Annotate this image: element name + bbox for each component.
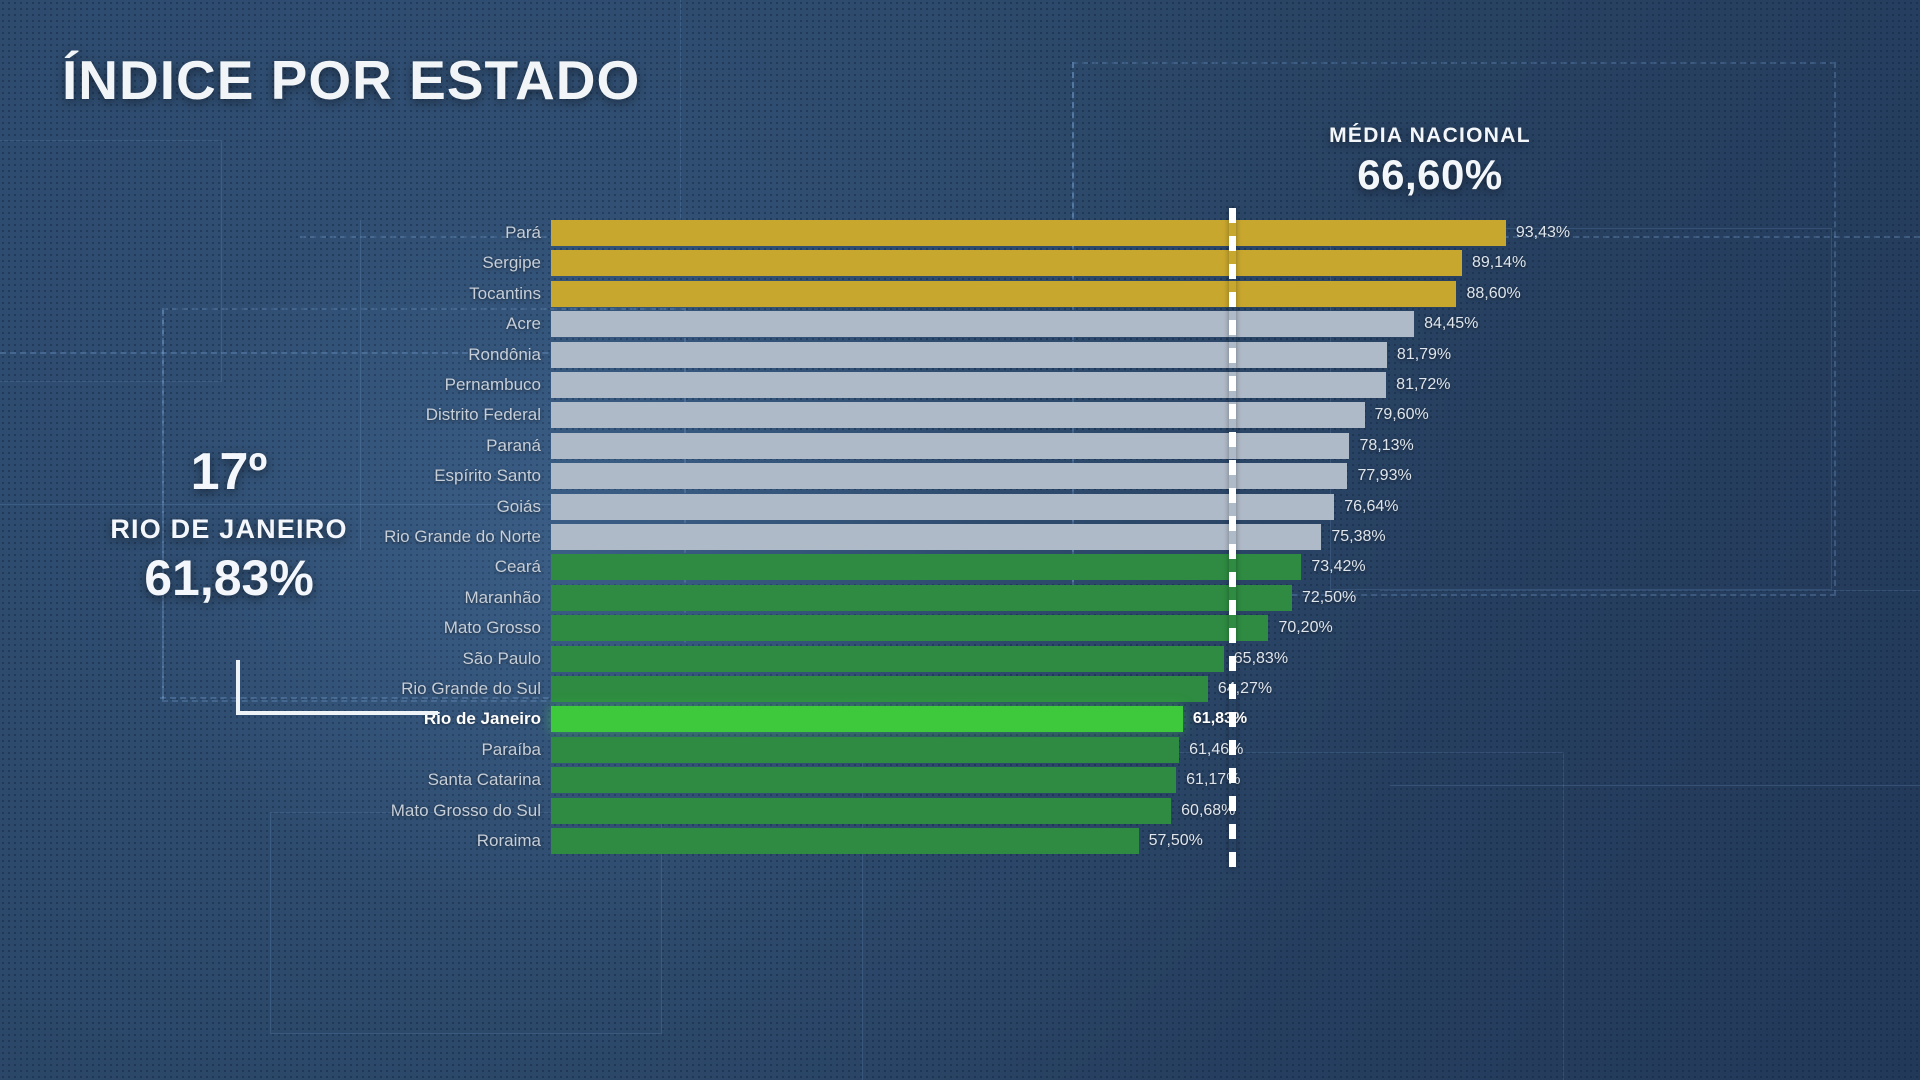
bar-value-label: 89,14% bbox=[1472, 254, 1526, 272]
callout-leader-line-horizontal bbox=[236, 711, 438, 715]
bar-value-label: 93,43% bbox=[1516, 224, 1570, 242]
bar-value-label: 78,13% bbox=[1359, 437, 1413, 455]
bar-label: Tocantins bbox=[121, 284, 541, 304]
chart-row: Paraíba61,46% bbox=[0, 735, 1920, 765]
bar-value-label: 84,45% bbox=[1424, 315, 1478, 333]
bar-label: Roraima bbox=[121, 831, 541, 851]
bar bbox=[551, 281, 1456, 307]
bar bbox=[551, 402, 1365, 428]
bar-value-label: 64,27% bbox=[1218, 680, 1272, 698]
bar-label: Rio Grande do Sul bbox=[121, 679, 541, 699]
bar bbox=[551, 646, 1224, 672]
chart-row: Pernambuco81,72% bbox=[0, 370, 1920, 400]
bar-value-label: 88,60% bbox=[1466, 285, 1520, 303]
bar-label: Acre bbox=[121, 314, 541, 334]
bar-value-label: 70,20% bbox=[1278, 619, 1332, 637]
chart-row: Mato Grosso do Sul60,68% bbox=[0, 796, 1920, 826]
bar bbox=[551, 706, 1183, 732]
national-average-dashed-line bbox=[1229, 208, 1236, 868]
bar-label: Distrito Federal bbox=[121, 405, 541, 425]
bar-label: Pará bbox=[121, 223, 541, 243]
bar-value-label: 75,38% bbox=[1331, 528, 1385, 546]
bar-value-label: 79,60% bbox=[1375, 406, 1429, 424]
national-average-block: MÉDIA NACIONAL 66,60% bbox=[1300, 124, 1560, 199]
callout-value: 61,83% bbox=[84, 549, 374, 607]
bar-value-label: 72,50% bbox=[1302, 589, 1356, 607]
chart-row: Roraima57,50% bbox=[0, 826, 1920, 856]
chart-row: Rio Grande do Sul64,27% bbox=[0, 674, 1920, 704]
bar bbox=[551, 615, 1268, 641]
bar-value-label: 65,83% bbox=[1234, 650, 1288, 668]
bar bbox=[551, 737, 1179, 763]
highlight-callout: 17º RIO DE JANEIRO 61,83% bbox=[84, 446, 374, 607]
national-average-value: 66,60% bbox=[1300, 151, 1560, 199]
bar-label: Sergipe bbox=[121, 253, 541, 273]
chart-row: Mato Grosso70,20% bbox=[0, 613, 1920, 643]
deco-line-v1 bbox=[680, 0, 681, 230]
chart-row: Sergipe89,14% bbox=[0, 248, 1920, 278]
bar-label: Rondônia bbox=[121, 345, 541, 365]
bar-value-label: 81,79% bbox=[1397, 346, 1451, 364]
page-title: ÍNDICE POR ESTADO bbox=[62, 48, 640, 112]
bar bbox=[551, 311, 1414, 337]
bar bbox=[551, 250, 1462, 276]
chart-row: Santa Catarina61,17% bbox=[0, 765, 1920, 795]
infographic-canvas: ÍNDICE POR ESTADO MÉDIA NACIONAL 66,60% … bbox=[0, 0, 1920, 1080]
bar-value-label: 77,93% bbox=[1357, 467, 1411, 485]
bar-value-label: 57,50% bbox=[1149, 832, 1203, 850]
bar-label: São Paulo bbox=[121, 649, 541, 669]
bar bbox=[551, 798, 1171, 824]
chart-row: Rondônia81,79% bbox=[0, 340, 1920, 370]
chart-row: Rio de Janeiro61,83% bbox=[0, 704, 1920, 734]
bar bbox=[551, 494, 1334, 520]
bar bbox=[551, 342, 1387, 368]
callout-rank: 17º bbox=[84, 446, 374, 498]
bar-label: Paraíba bbox=[121, 740, 541, 760]
bar-value-label: 60,68% bbox=[1181, 802, 1235, 820]
bar-label: Mato Grosso bbox=[121, 618, 541, 638]
chart-row: Acre84,45% bbox=[0, 309, 1920, 339]
bar bbox=[551, 524, 1321, 550]
bar bbox=[551, 676, 1208, 702]
bar bbox=[551, 372, 1386, 398]
bar bbox=[551, 585, 1292, 611]
bar-label: Santa Catarina bbox=[121, 770, 541, 790]
bar-value-label: 73,42% bbox=[1311, 558, 1365, 576]
bar-value-label: 76,64% bbox=[1344, 498, 1398, 516]
bar bbox=[551, 220, 1506, 246]
bar-value-label: 61,83% bbox=[1193, 710, 1247, 728]
bar bbox=[551, 828, 1139, 854]
bar-value-label: 81,72% bbox=[1396, 376, 1450, 394]
bar bbox=[551, 767, 1176, 793]
chart-row: Distrito Federal79,60% bbox=[0, 400, 1920, 430]
bar-label: Mato Grosso do Sul bbox=[121, 801, 541, 821]
callout-leader-line-vertical bbox=[236, 660, 240, 715]
chart-row: Tocantins88,60% bbox=[0, 279, 1920, 309]
callout-state-name: RIO DE JANEIRO bbox=[84, 514, 374, 545]
national-average-label: MÉDIA NACIONAL bbox=[1300, 124, 1560, 148]
chart-row: Pará93,43% bbox=[0, 218, 1920, 248]
chart-row: São Paulo65,83% bbox=[0, 644, 1920, 674]
bar-label: Pernambuco bbox=[121, 375, 541, 395]
bar bbox=[551, 554, 1301, 580]
